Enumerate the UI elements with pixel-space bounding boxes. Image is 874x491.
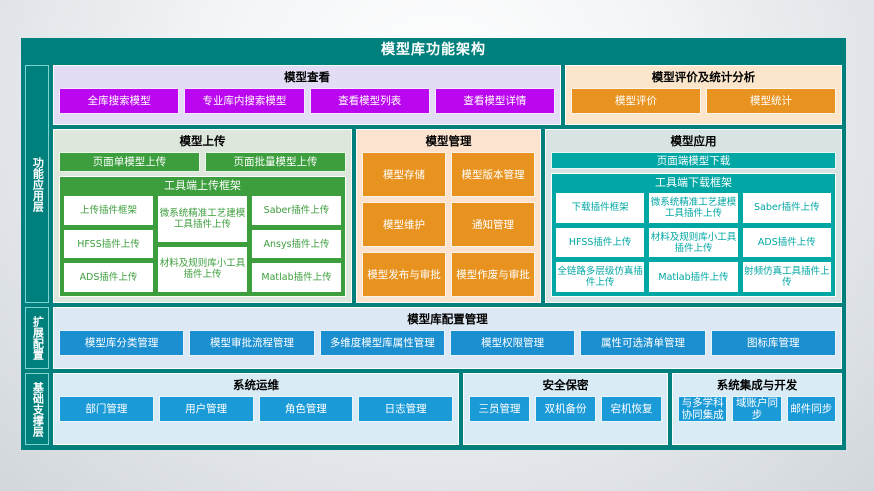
- button-view-model-list[interactable]: 查看模型列表: [310, 88, 430, 114]
- chip-download-ads-plugin-upload[interactable]: ADS插件上传: [742, 227, 832, 259]
- button-department-management[interactable]: 部门管理: [59, 396, 154, 422]
- button-model-storage[interactable]: 模型存储: [362, 152, 446, 197]
- button-crash-recovery[interactable]: 宕机恢复: [601, 396, 662, 422]
- layer-label-extension-text: 扩展配置: [31, 316, 44, 360]
- layer-foundation: 基础支撑层 系统运维 部门管理 用户管理 角色管理 日志管理 安全保密: [25, 373, 842, 445]
- upload-tool-col-mid: 微系统精准工艺建模工具插件上传 材料及规则库小工具插件上传: [157, 195, 248, 293]
- button-dual-machine-backup[interactable]: 双机备份: [535, 396, 596, 422]
- model-management-row-2: 模型维护 通知管理: [362, 202, 535, 247]
- button-role-management[interactable]: 角色管理: [259, 396, 354, 422]
- row-foundation-panels: 系统运维 部门管理 用户管理 角色管理 日志管理 安全保密 三员管理 双机备份: [53, 373, 842, 445]
- button-model-publish-approval[interactable]: 模型发布与审批: [362, 252, 446, 297]
- layer-label-functional: 功能应用层: [25, 65, 49, 303]
- row-view-eval: 模型查看 全库搜索模型 专业库内搜索模型 查看模型列表 查看模型详情 模型评价及…: [53, 65, 842, 125]
- chip-ansys-plugin-upload[interactable]: Ansys插件上传: [251, 229, 342, 260]
- panel-title-config-management: 模型库配置管理: [59, 311, 836, 327]
- chip-material-rule-library-tool-plugin-upload[interactable]: 材料及规则库小工具插件上传: [157, 246, 248, 294]
- chip-download-hfss-plugin-upload[interactable]: HFSS插件上传: [555, 227, 645, 259]
- panel-model-view: 模型查看 全库搜索模型 专业库内搜索模型 查看模型列表 查看模型详情: [53, 65, 561, 125]
- button-domain-account-sync[interactable]: 域账户同步: [732, 396, 781, 422]
- button-attribute-option-list-management[interactable]: 属性可选清单管理: [580, 330, 705, 356]
- model-view-buttons: 全库搜索模型 专业库内搜索模型 查看模型列表 查看模型详情: [59, 88, 555, 114]
- panel-model-management: 模型管理 模型存储 模型版本管理 模型维护 通知管理 模型发布与: [356, 129, 541, 303]
- panel-title-system-integration: 系统集成与开发: [678, 377, 836, 393]
- button-view-model-detail[interactable]: 查看模型详情: [435, 88, 555, 114]
- button-search-all-library[interactable]: 全库搜索模型: [59, 88, 179, 114]
- button-notification-management[interactable]: 通知管理: [451, 202, 535, 247]
- chip-download-microsystem-process-modeling-plugin-upload[interactable]: 微系统精准工艺建模工具插件上传: [648, 192, 738, 224]
- download-tool-col-right: Saber插件上传 ADS插件上传 射频仿真工具插件上传: [742, 192, 832, 293]
- layer-label-foundation-text: 基础支撑层: [31, 382, 44, 437]
- chip-upload-plugin-framework[interactable]: 上传插件框架: [63, 195, 154, 226]
- panel-security: 安全保密 三员管理 双机备份 宕机恢复: [463, 373, 668, 445]
- model-upload-top-buttons: 页面单模型上传 页面批量模型上传: [59, 152, 346, 172]
- button-model-library-category-management[interactable]: 模型库分类管理: [59, 330, 184, 356]
- button-multidimensional-model-attribute-management[interactable]: 多维度模型库属性管理: [320, 330, 445, 356]
- chip-download-plugin-framework[interactable]: 下载插件框架: [555, 192, 645, 224]
- button-page-single-model-upload[interactable]: 页面单模型上传: [59, 152, 200, 172]
- download-tool-col-mid: 微系统精准工艺建模工具插件上传 材料及规则库小工具插件上传 Matlab插件上传: [648, 192, 738, 293]
- panel-title-security: 安全保密: [469, 377, 662, 393]
- panel-model-upload: 模型上传 页面单模型上传 页面批量模型上传 工具端上传框架 上传插件框架 HFS…: [53, 129, 352, 303]
- chip-hfss-plugin-upload[interactable]: HFSS插件上传: [63, 229, 154, 260]
- button-model-statistics[interactable]: 模型统计: [706, 88, 836, 114]
- chip-rf-simulation-tool-plugin-upload[interactable]: 射频仿真工具插件上传: [742, 261, 832, 293]
- download-tool-col-left: 下载插件框架 HFSS插件上传 全链路多层级仿真插件上传: [555, 192, 645, 293]
- layer-label-foundation: 基础支撑层: [25, 373, 49, 445]
- upload-tool-framework-title: 工具端上传框架: [63, 179, 342, 193]
- upload-tool-col-right: Saber插件上传 Ansys插件上传 Matlab插件上传: [251, 195, 342, 293]
- button-user-management[interactable]: 用户管理: [159, 396, 254, 422]
- button-page-batch-model-upload[interactable]: 页面批量模型上传: [205, 152, 346, 172]
- chip-download-saber-plugin-upload[interactable]: Saber插件上传: [742, 192, 832, 224]
- panel-title-model-view: 模型查看: [59, 69, 555, 85]
- button-model-evaluation[interactable]: 模型评价: [571, 88, 701, 114]
- layer-extension-content: 模型库配置管理 模型库分类管理 模型审批流程管理 多维度模型库属性管理 模型权限…: [53, 307, 842, 369]
- model-management-grid: 模型存储 模型版本管理 模型维护 通知管理 模型发布与审批 模型作废与审批: [362, 152, 535, 297]
- panel-model-evaluation: 模型评价及统计分析 模型评价 模型统计: [565, 65, 842, 125]
- chip-ads-plugin-upload[interactable]: ADS插件上传: [63, 262, 154, 293]
- upload-tool-columns: 上传插件框架 HFSS插件上传 ADS插件上传 微系统精准工艺建模工具插件上传 …: [63, 195, 342, 293]
- model-management-row-1: 模型存储 模型版本管理: [362, 152, 535, 197]
- layer-foundation-content: 系统运维 部门管理 用户管理 角色管理 日志管理 安全保密 三员管理 双机备份: [53, 373, 842, 445]
- download-tool-framework-title: 工具端下载框架: [555, 176, 832, 190]
- upload-tool-col-left: 上传插件框架 HFSS插件上传 ADS插件上传: [63, 195, 154, 293]
- button-page-model-download[interactable]: 页面端模型下载: [551, 152, 836, 169]
- architecture-diagram: 模型库功能架构 功能应用层 模型查看 全库搜索模型 专业库内搜索模型 查看模型列…: [21, 38, 846, 450]
- chip-download-material-rule-library-tool-plugin-upload[interactable]: 材料及规则库小工具插件上传: [648, 227, 738, 259]
- panel-title-model-application: 模型应用: [551, 133, 836, 149]
- upload-tool-framework: 工具端上传框架 上传插件框架 HFSS插件上传 ADS插件上传 微系统精准工艺建…: [59, 176, 346, 297]
- chip-microsystem-process-modeling-plugin-upload[interactable]: 微系统精准工艺建模工具插件上传: [157, 195, 248, 243]
- chip-download-matlab-plugin-upload[interactable]: Matlab插件上传: [648, 261, 738, 293]
- layer-functional: 功能应用层 模型查看 全库搜索模型 专业库内搜索模型 查看模型列表 查看模型详情: [25, 65, 842, 303]
- button-email-sync[interactable]: 邮件同步: [787, 396, 836, 422]
- panel-title-model-management: 模型管理: [362, 133, 535, 149]
- chip-saber-plugin-upload[interactable]: Saber插件上传: [251, 195, 342, 226]
- button-model-approval-process-management[interactable]: 模型审批流程管理: [189, 330, 314, 356]
- layer-functional-content: 模型查看 全库搜索模型 专业库内搜索模型 查看模型列表 查看模型详情 模型评价及…: [53, 65, 842, 303]
- layer-label-extension: 扩展配置: [25, 307, 49, 369]
- button-log-management[interactable]: 日志管理: [358, 396, 453, 422]
- button-model-maintenance[interactable]: 模型维护: [362, 202, 446, 247]
- model-management-row-3: 模型发布与审批 模型作废与审批: [362, 252, 535, 297]
- security-buttons: 三员管理 双机备份 宕机恢复: [469, 396, 662, 422]
- system-integration-buttons: 与多学科协同集成 域账户同步 邮件同步: [678, 396, 836, 422]
- layer-extension: 扩展配置 模型库配置管理 模型库分类管理 模型审批流程管理 多维度模型库属性管理…: [25, 307, 842, 369]
- system-operations-buttons: 部门管理 用户管理 角色管理 日志管理: [59, 396, 453, 422]
- model-app-top-buttons: 页面端模型下载: [551, 152, 836, 169]
- layers-container: 功能应用层 模型查看 全库搜索模型 专业库内搜索模型 查看模型列表 查看模型详情: [25, 65, 842, 445]
- button-model-version-management[interactable]: 模型版本管理: [451, 152, 535, 197]
- button-model-permission-management[interactable]: 模型权限管理: [450, 330, 575, 356]
- button-model-obsolete-approval[interactable]: 模型作废与审批: [451, 252, 535, 297]
- panel-model-application: 模型应用 页面端模型下载 工具端下载框架 下载插件框架 HFSS插件上传 全链路…: [545, 129, 842, 303]
- panel-title-model-upload: 模型上传: [59, 133, 346, 149]
- chip-full-link-multilevel-simulation-plugin-upload[interactable]: 全链路多层级仿真插件上传: [555, 261, 645, 293]
- button-search-in-domain-library[interactable]: 专业库内搜索模型: [184, 88, 304, 114]
- button-multidisciplinary-collaboration-integration[interactable]: 与多学科协同集成: [678, 396, 727, 422]
- button-icon-library-management[interactable]: 图标库管理: [711, 330, 836, 356]
- config-buttons: 模型库分类管理 模型审批流程管理 多维度模型库属性管理 模型权限管理 属性可选清…: [59, 330, 836, 356]
- page-title: 模型库功能架构: [21, 38, 846, 63]
- chip-matlab-plugin-upload[interactable]: Matlab插件上传: [251, 262, 342, 293]
- model-eval-buttons: 模型评价 模型统计: [571, 88, 836, 114]
- panel-title-model-evaluation: 模型评价及统计分析: [571, 69, 836, 85]
- row-upload-manage-app: 模型上传 页面单模型上传 页面批量模型上传 工具端上传框架 上传插件框架 HFS…: [53, 129, 842, 303]
- panel-system-integration: 系统集成与开发 与多学科协同集成 域账户同步 邮件同步: [672, 373, 842, 445]
- download-tool-columns: 下载插件框架 HFSS插件上传 全链路多层级仿真插件上传 微系统精准工艺建模工具…: [555, 192, 832, 293]
- button-three-member-management[interactable]: 三员管理: [469, 396, 530, 422]
- download-tool-framework: 工具端下载框架 下载插件框架 HFSS插件上传 全链路多层级仿真插件上传 微系统…: [551, 173, 836, 297]
- panel-config-management: 模型库配置管理 模型库分类管理 模型审批流程管理 多维度模型库属性管理 模型权限…: [53, 307, 842, 369]
- panel-system-operations: 系统运维 部门管理 用户管理 角色管理 日志管理: [53, 373, 459, 445]
- panel-title-system-operations: 系统运维: [59, 377, 453, 393]
- layer-label-functional-text: 功能应用层: [31, 157, 44, 212]
